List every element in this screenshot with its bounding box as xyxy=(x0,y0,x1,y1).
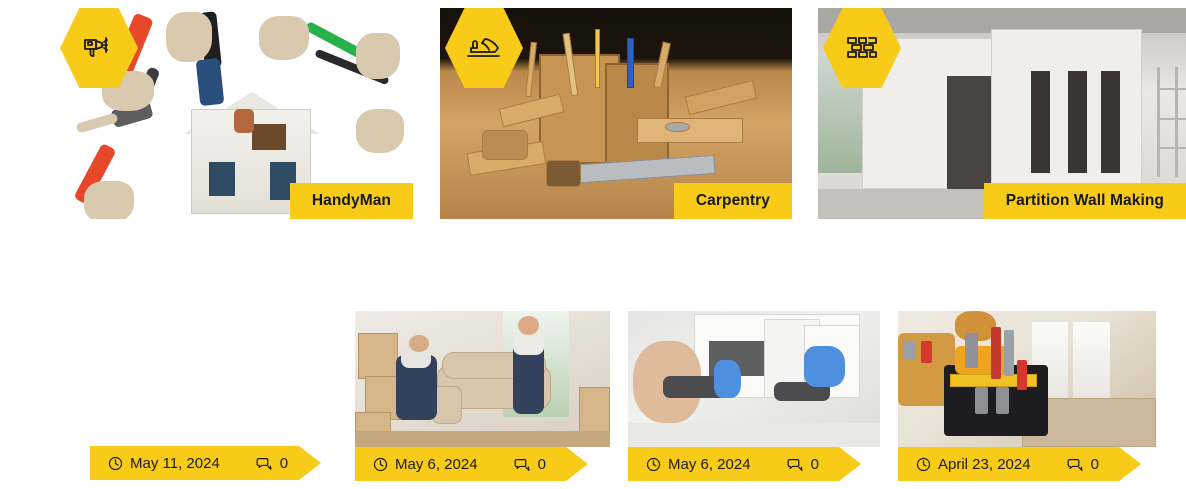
service-label[interactable]: Carpentry xyxy=(674,183,792,220)
post-meta: May 11, 2024 0 xyxy=(90,446,321,480)
comments-icon xyxy=(1067,457,1084,472)
post-date: April 23, 2024 xyxy=(916,457,1031,472)
service-label[interactable]: HandyMan xyxy=(290,183,413,220)
post-thumbnail[interactable] xyxy=(628,311,880,447)
post-comment-count: 0 xyxy=(538,457,546,472)
post-comment-count: 0 xyxy=(811,457,819,472)
service-card-carpentry[interactable]: Carpentry xyxy=(440,0,792,230)
post-meta: April 23, 2024 0 xyxy=(898,447,1141,481)
post-date-text: May 6, 2024 xyxy=(668,457,751,472)
post-date: May 11, 2024 xyxy=(108,456,220,471)
comments-icon xyxy=(787,457,804,472)
post-thumbnail[interactable] xyxy=(898,311,1156,447)
post-card[interactable]: April 23, 2024 0 xyxy=(898,311,1156,486)
post-card[interactable]: May 11, 2024 0 xyxy=(90,310,355,486)
post-comments: 0 xyxy=(256,456,288,471)
service-card-handyman[interactable]: HandyMan xyxy=(55,0,413,230)
clock-icon xyxy=(373,457,388,472)
post-date-text: May 11, 2024 xyxy=(130,456,220,471)
services-and-posts-page: HandyMan xyxy=(0,0,1186,489)
post-card[interactable]: May 6, 2024 0 xyxy=(355,311,610,486)
post-date-text: April 23, 2024 xyxy=(938,457,1031,472)
post-comments: 0 xyxy=(514,457,546,472)
post-card[interactable]: May 6, 2024 0 xyxy=(628,311,880,486)
post-comments: 0 xyxy=(1067,457,1099,472)
comments-icon xyxy=(514,457,531,472)
post-comment-count: 0 xyxy=(1091,457,1099,472)
service-card-partition-wall-making[interactable]: Partition Wall Making xyxy=(818,0,1186,230)
post-comment-count: 0 xyxy=(280,456,288,471)
clock-icon xyxy=(916,457,931,472)
post-thumbnail[interactable] xyxy=(355,311,610,447)
clock-icon xyxy=(108,456,123,471)
post-date-text: May 6, 2024 xyxy=(395,457,478,472)
post-date: May 6, 2024 xyxy=(373,457,478,472)
clock-icon xyxy=(646,457,661,472)
post-meta: May 6, 2024 0 xyxy=(628,447,861,481)
post-comments: 0 xyxy=(787,457,819,472)
post-date: May 6, 2024 xyxy=(646,457,751,472)
post-meta: May 6, 2024 0 xyxy=(355,447,588,481)
comments-icon xyxy=(256,456,273,471)
service-label[interactable]: Partition Wall Making xyxy=(984,183,1186,220)
